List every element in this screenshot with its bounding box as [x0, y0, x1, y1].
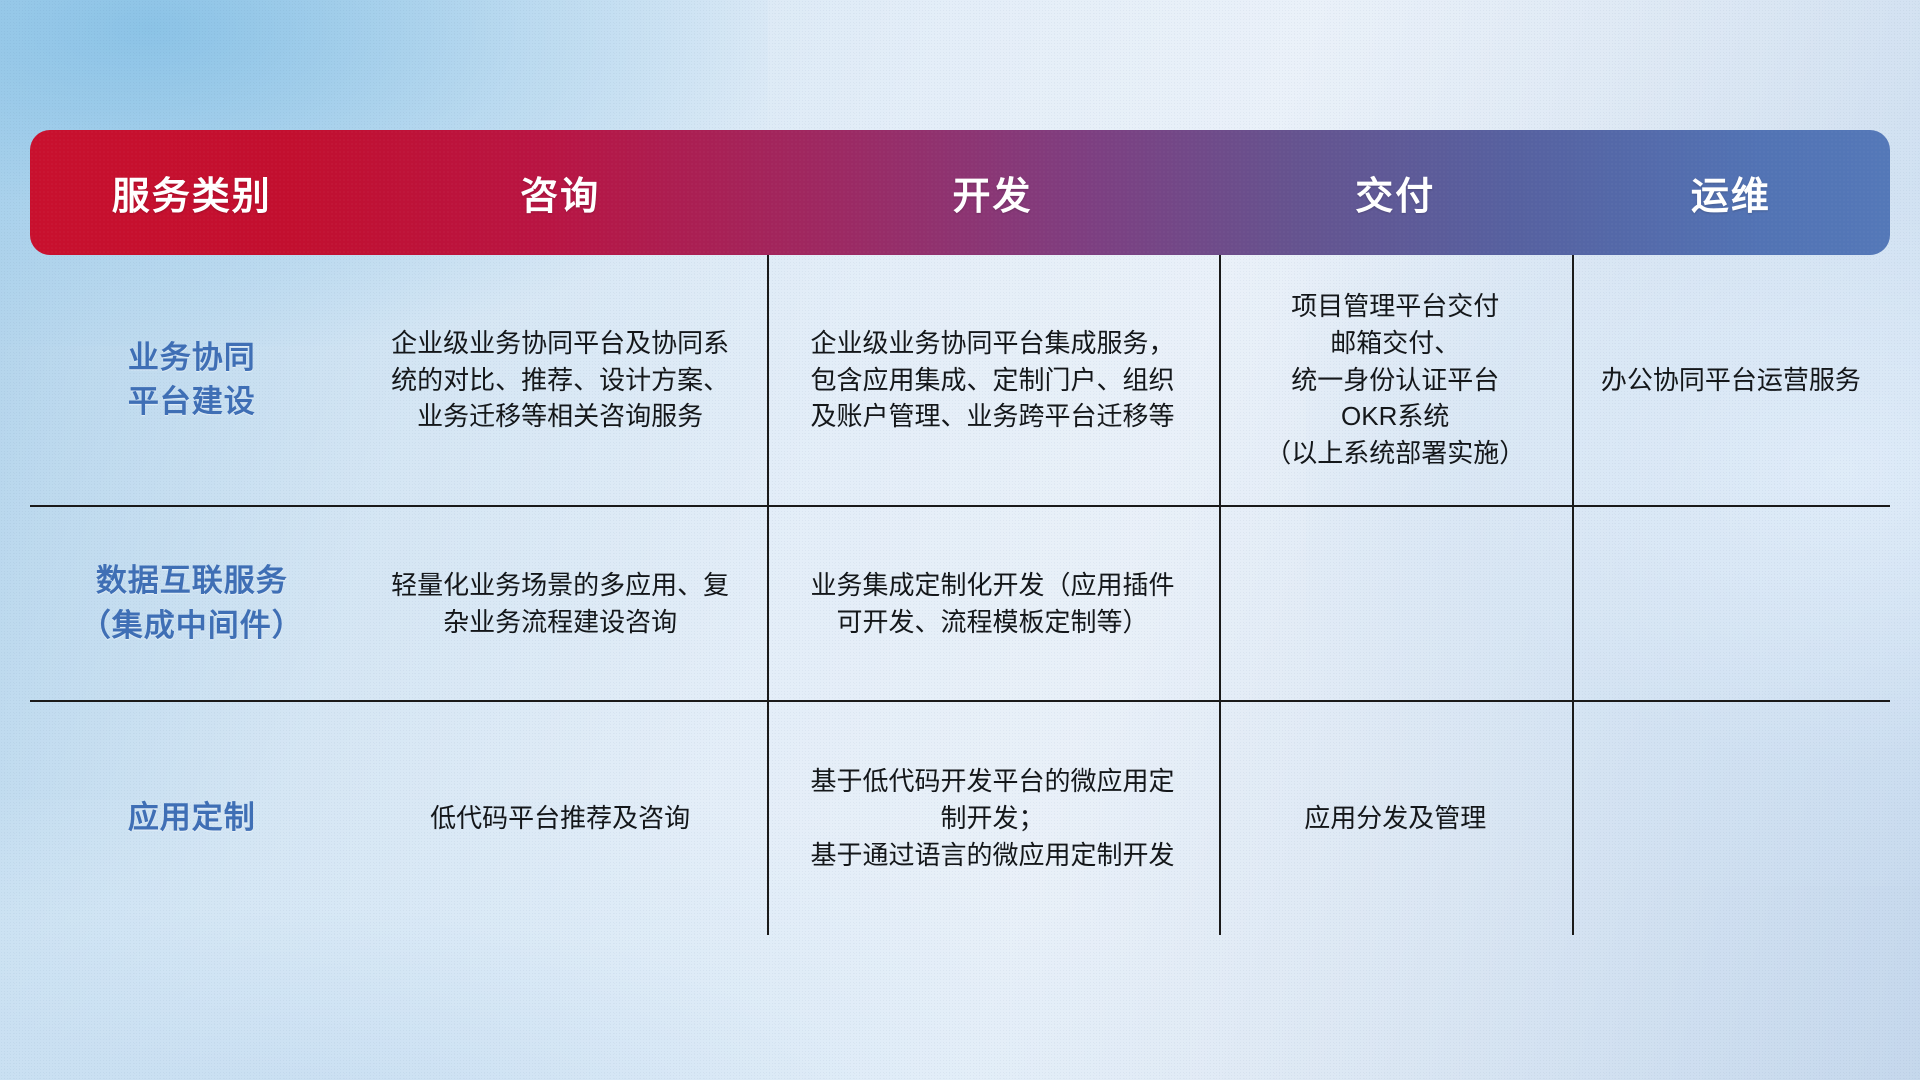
- header-cell-consulting: 咨询: [354, 165, 767, 220]
- header-cell-service-category: 服务类别: [30, 165, 354, 220]
- header-cell-operations: 运维: [1572, 165, 1890, 220]
- cell-development: 业务集成定制化开发（应用插件 可开发、流程模板定制等）: [767, 507, 1219, 700]
- table-row: 业务协同 平台建设 企业级业务协同平台及协同系 统的对比、推荐、设计方案、 业务…: [30, 255, 1890, 505]
- cell-development: 企业级业务协同平台集成服务， 包含应用集成、定制门户、组织 及账户管理、业务跨平…: [767, 255, 1219, 505]
- cell-consulting: 企业级业务协同平台及协同系 统的对比、推荐、设计方案、 业务迁移等相关咨询服务: [354, 255, 767, 505]
- header-label: 咨询: [520, 176, 600, 218]
- cell-category: 应用定制: [30, 702, 354, 935]
- cell-development: 基于低代码开发平台的微应用定 制开发； 基于通过语言的微应用定制开发: [767, 702, 1219, 935]
- cell-operations: [1572, 702, 1890, 935]
- service-category-table: 服务类别 咨询 开发 交付 运维 业务协同 平台建设 企业级业务协同平台及协同系…: [30, 130, 1890, 955]
- header-label: 服务类别: [112, 176, 272, 218]
- cell-consulting: 轻量化业务场景的多应用、复 杂业务流程建设咨询: [354, 507, 767, 700]
- cell-operations: 办公协同平台运营服务: [1572, 255, 1890, 505]
- cell-delivery: [1219, 507, 1572, 700]
- header-label: 开发: [953, 176, 1033, 218]
- cell-delivery: 项目管理平台交付 邮箱交付、 统一身份认证平台 OKR系统 （以上系统部署实施）: [1219, 255, 1572, 505]
- cell-category: 数据互联服务 （集成中间件）: [30, 507, 354, 700]
- table-body: 业务协同 平台建设 企业级业务协同平台及协同系 统的对比、推荐、设计方案、 业务…: [30, 255, 1890, 935]
- cell-delivery: 应用分发及管理: [1219, 702, 1572, 935]
- cell-consulting: 低代码平台推荐及咨询: [354, 702, 767, 935]
- header-cell-development: 开发: [767, 165, 1219, 220]
- table-header-row: 服务类别 咨询 开发 交付 运维: [30, 130, 1890, 255]
- cell-category: 业务协同 平台建设: [30, 255, 354, 505]
- header-label: 运维: [1691, 176, 1771, 218]
- header-label: 交付: [1355, 176, 1435, 218]
- cell-operations: [1572, 507, 1890, 700]
- header-cell-delivery: 交付: [1219, 165, 1572, 220]
- table-row: 数据互联服务 （集成中间件） 轻量化业务场景的多应用、复 杂业务流程建设咨询 业…: [30, 505, 1890, 700]
- table-row: 应用定制 低代码平台推荐及咨询 基于低代码开发平台的微应用定 制开发； 基于通过…: [30, 700, 1890, 935]
